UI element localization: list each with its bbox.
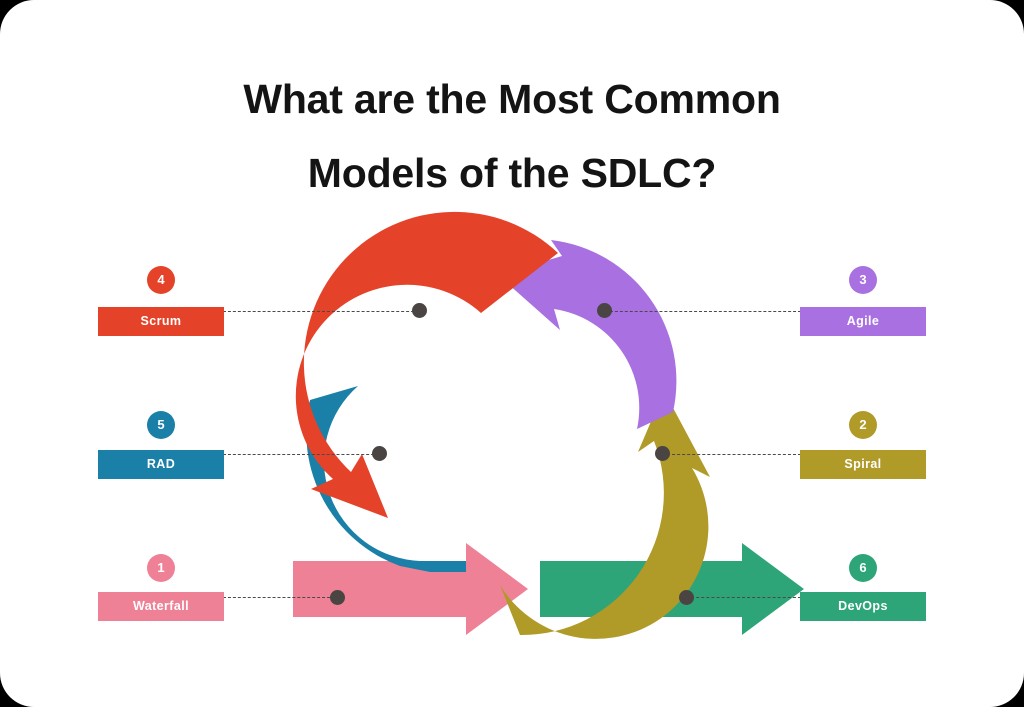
step-number-badge[interactable]: 5	[147, 411, 175, 439]
connector-dot	[679, 590, 694, 605]
connector-dot	[372, 446, 387, 461]
connector-dot	[412, 303, 427, 318]
connector-line	[605, 311, 801, 312]
step-number-badge[interactable]: 2	[849, 411, 877, 439]
connector-line	[223, 311, 419, 312]
connector-line	[662, 454, 801, 455]
model-label-spiral[interactable]: Spiral	[800, 450, 926, 479]
model-label-devops[interactable]: DevOps	[800, 592, 926, 621]
model-label-waterfall[interactable]: Waterfall	[98, 592, 224, 621]
arrow-waterfall[interactable]	[293, 543, 528, 635]
arrow-scrum[interactable]	[296, 212, 558, 518]
model-label-rad[interactable]: RAD	[98, 450, 224, 479]
step-number-badge[interactable]: 1	[147, 554, 175, 582]
step-number-badge[interactable]: 4	[147, 266, 175, 294]
connector-line	[686, 597, 801, 598]
connector-line	[223, 454, 379, 455]
step-number-badge[interactable]: 3	[849, 266, 877, 294]
arrow-rad[interactable]	[306, 386, 466, 572]
connector-line	[223, 597, 335, 598]
connector-dot	[655, 446, 670, 461]
model-label-scrum[interactable]: Scrum	[98, 307, 224, 336]
connector-dot	[330, 590, 345, 605]
connector-dot	[597, 303, 612, 318]
step-number-badge[interactable]: 6	[849, 554, 877, 582]
model-label-agile[interactable]: Agile	[800, 307, 926, 336]
infographic-card: What are the Most Common Models of the S…	[0, 0, 1024, 707]
